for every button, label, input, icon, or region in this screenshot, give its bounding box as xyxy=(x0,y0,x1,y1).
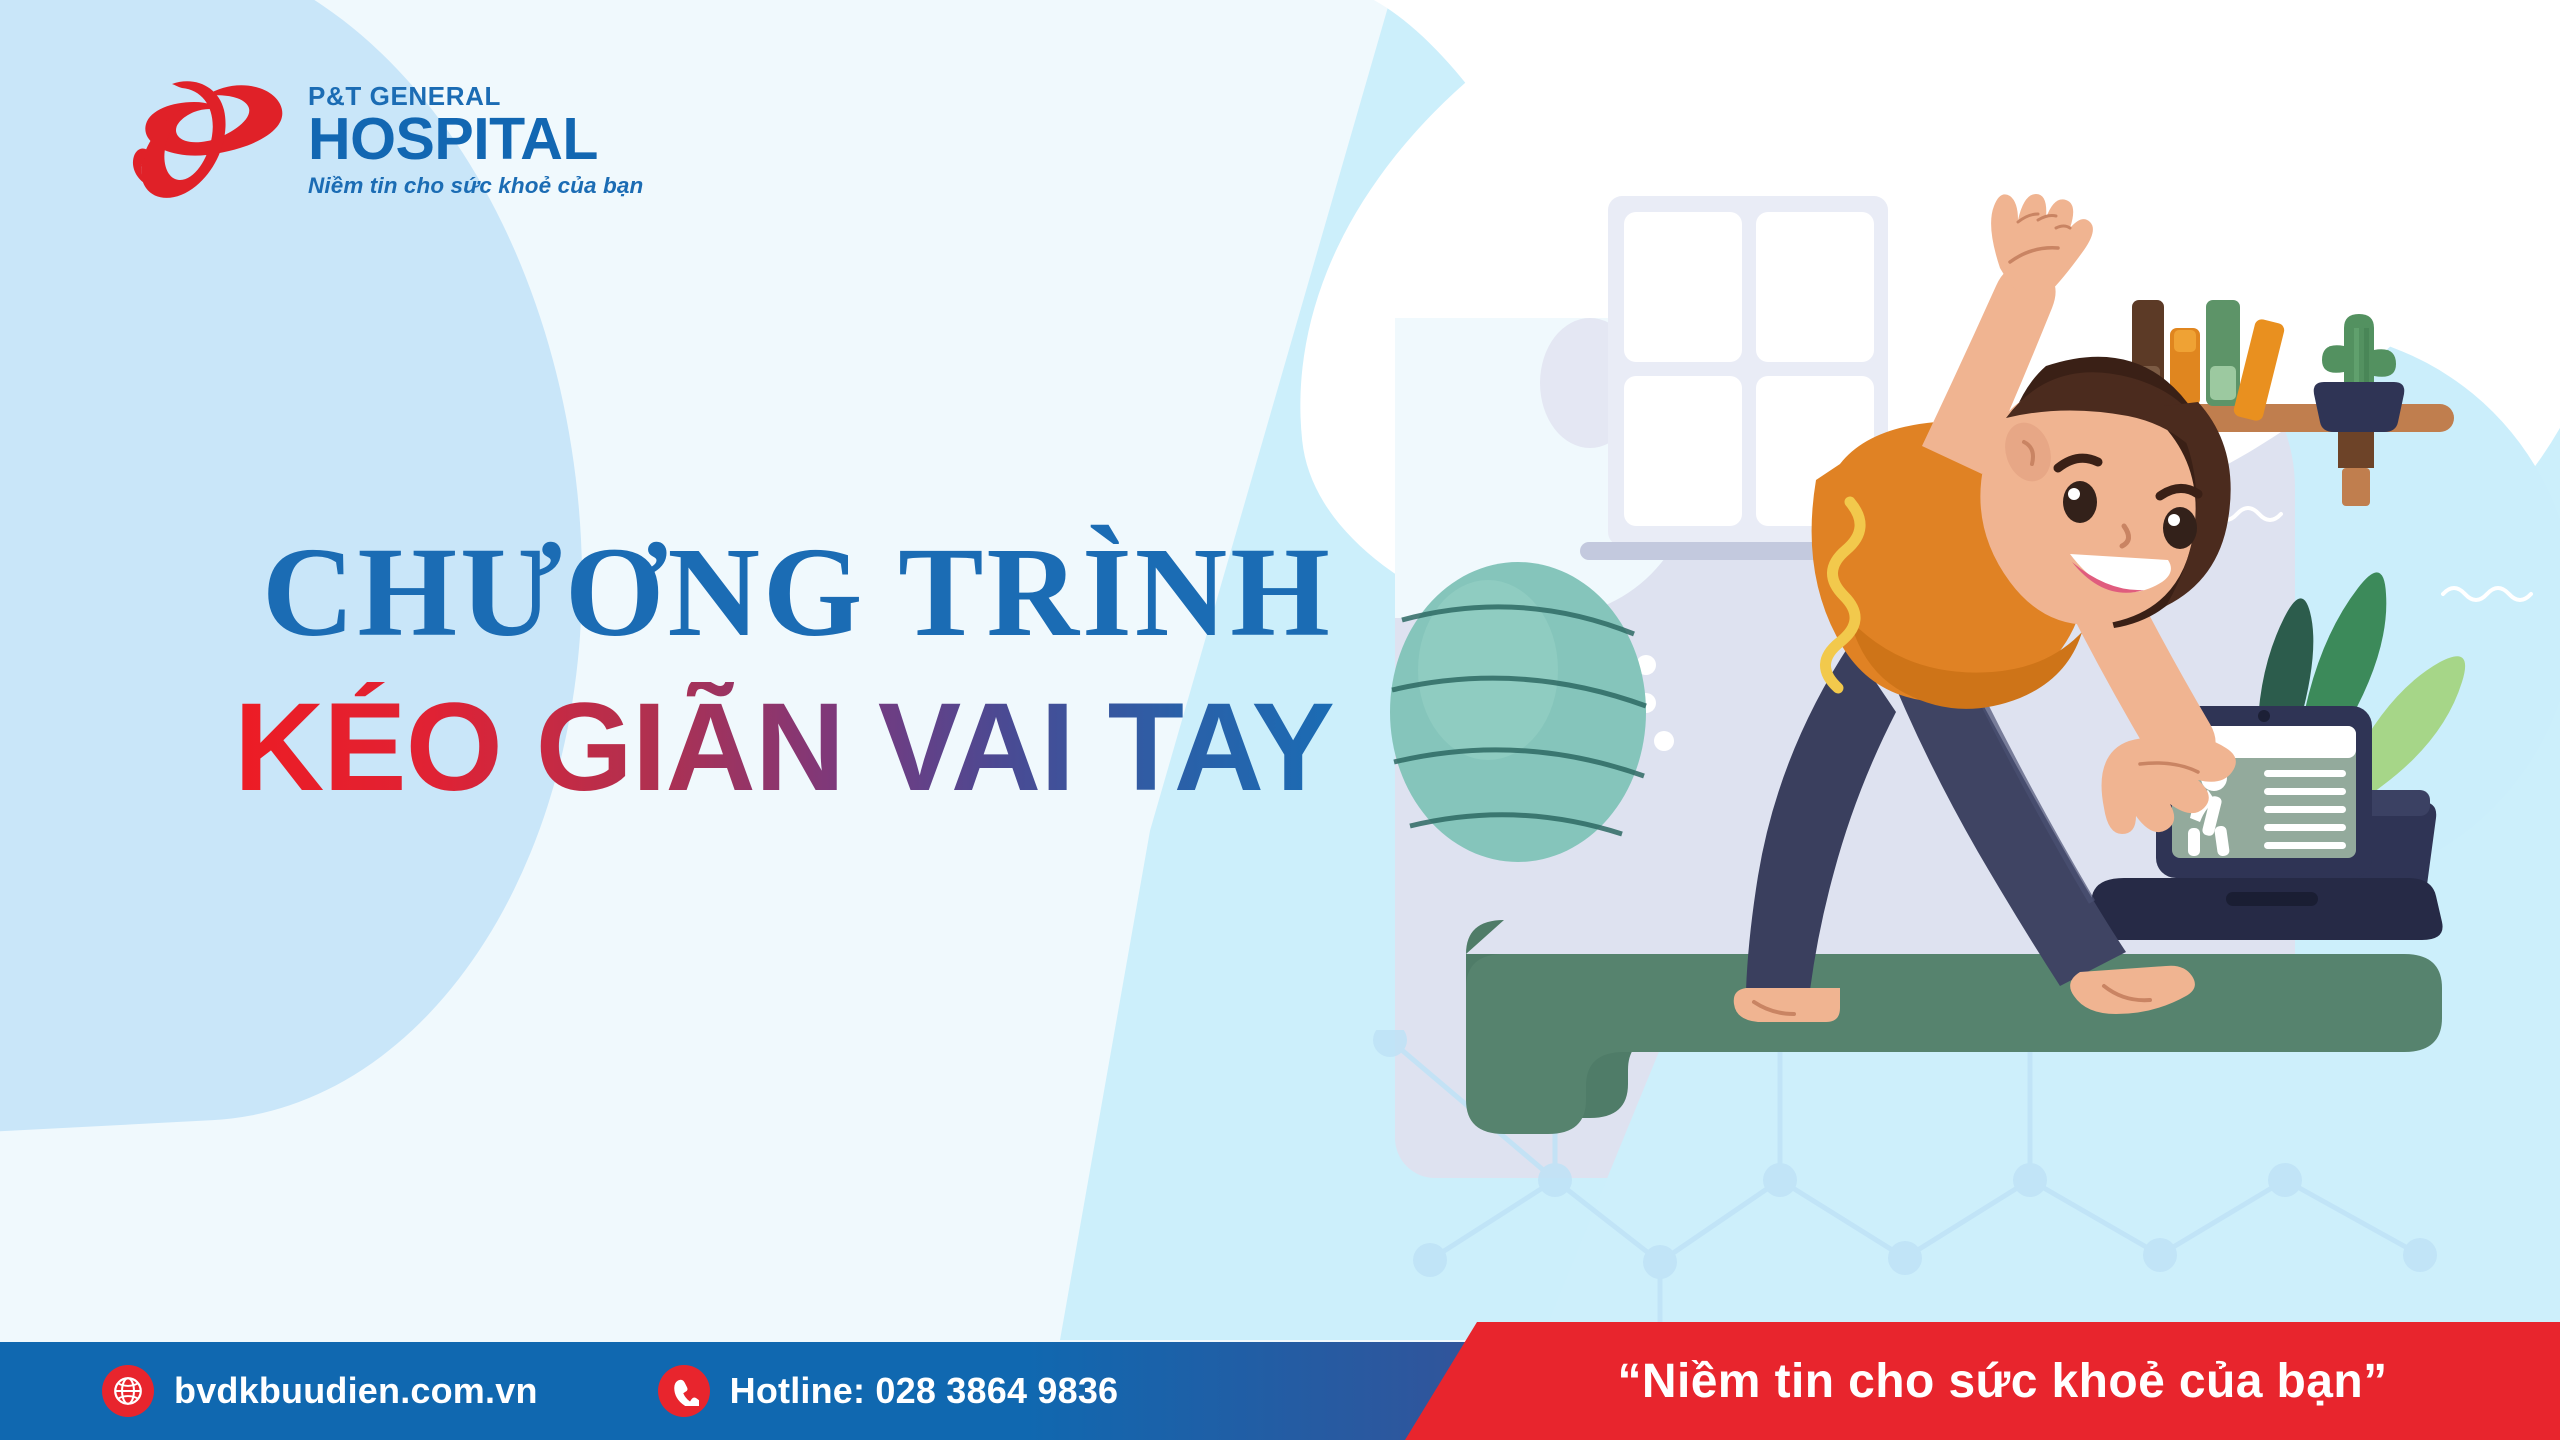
brand-line-hospital: HOSPITAL xyxy=(308,109,643,169)
banner-canvas: P&T GENERAL HOSPITAL Niềm tin cho sức kh… xyxy=(0,0,2560,1440)
exercise-ball-icon xyxy=(1390,562,1646,862)
footer-hotline-label: Hotline: 028 3864 9836 xyxy=(730,1370,1119,1412)
phone-icon xyxy=(658,1365,710,1417)
yoga-mat-icon xyxy=(1466,920,2442,1134)
headline-line-2: KÉO GIÃN VAI TAY xyxy=(234,682,1334,813)
footer-hotline[interactable]: Hotline: 028 3864 9836 xyxy=(658,1365,1119,1417)
page-title: CHƯƠNG TRÌNH KÉO GIÃN VAI TAY xyxy=(262,528,1334,813)
brand-logo-text: P&T GENERAL HOSPITAL Niềm tin cho sức kh… xyxy=(308,75,643,198)
headline-line-1: CHƯƠNG TRÌNH xyxy=(262,528,1334,656)
footer-slogan-banner: “Niềm tin cho sức khoẻ của bạn” xyxy=(1405,1322,2560,1440)
footer-website-label: bvdkbuudien.com.vn xyxy=(174,1370,538,1412)
globe-icon xyxy=(102,1365,154,1417)
footer-slogan-text: “Niềm tin cho sức khoẻ của bạn” xyxy=(1578,1354,2388,1409)
red-swoosh-orbit-logo-icon xyxy=(120,62,292,212)
cactus-plant-icon xyxy=(2314,314,2405,432)
brand-logo[interactable]: P&T GENERAL HOSPITAL Niềm tin cho sức kh… xyxy=(120,62,643,212)
exercise-illustration xyxy=(1380,150,2560,1200)
brand-tagline: Niềm tin cho sức khoẻ của bạn xyxy=(308,173,643,199)
footer-website[interactable]: bvdkbuudien.com.vn xyxy=(102,1365,538,1417)
